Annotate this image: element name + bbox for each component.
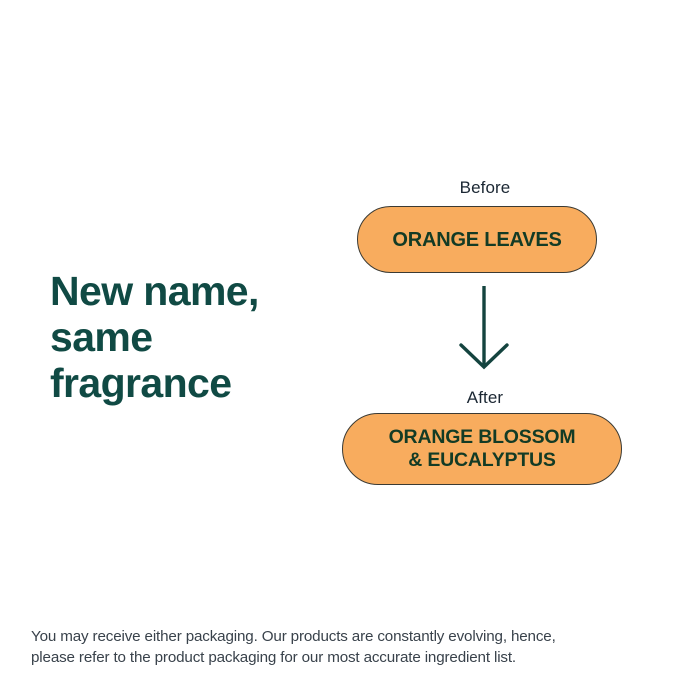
after-product-pill: ORANGE BLOSSOM & EUCALYPTUS (342, 413, 622, 485)
arrow-down-icon (454, 285, 514, 375)
product-rename-graphic: New name, same fragrance Before ORANGE L… (0, 0, 679, 679)
headline: New name, same fragrance (50, 268, 350, 406)
before-after-flow: Before ORANGE LEAVES After ORANGE BLOSSO… (330, 170, 640, 500)
before-label: Before (330, 178, 640, 198)
disclaimer-text: You may receive either packaging. Our pr… (31, 626, 631, 668)
before-product-pill: ORANGE LEAVES (357, 206, 597, 273)
after-label: After (330, 388, 640, 408)
